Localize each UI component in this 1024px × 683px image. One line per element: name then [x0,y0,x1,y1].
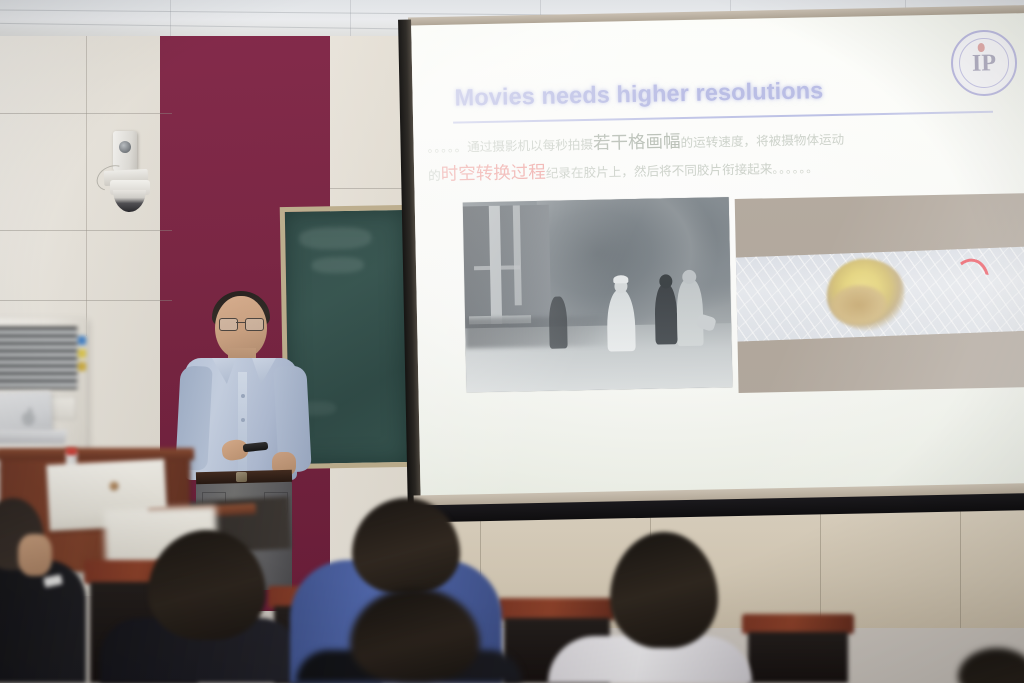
slide-image-film-still [463,197,733,392]
figure-dark-suit [654,284,677,344]
eyeglasses-icon [219,318,264,329]
body-part-1: 通过摄影机以每秒拍摄 [467,137,593,155]
sensor-lens-icon [119,141,131,153]
institute-of-physics-cas-logo: IP [950,29,1017,96]
projection-screen: Movies needs higher resolutions IP 。。。。。… [384,5,1024,578]
box-knob [109,481,118,490]
figure-hat [613,275,628,283]
trailing-dots: 。。。。。。 [772,162,819,177]
leading-dots: 。。。。。 [427,140,467,155]
figure-light-coat [676,280,703,347]
logo-glyph: IP [972,50,997,77]
slide-title: Movies needs higher resolutions [454,75,934,112]
ac-grille [0,326,78,390]
chair [742,614,854,683]
slide-body-text: 。。。。。通过摄影机以每秒拍摄若干格画幅的运转速度，将被摄物体运动 的时空转换过… [427,121,1016,189]
body-part-2: 的运转速度，将被摄物体运动 [680,132,844,150]
body-emphasis-2: 时空转换过程 [441,163,546,185]
podium-top-edge [0,448,194,460]
figure-background [549,296,568,348]
body-part-4: 纪录在胶片上，然后将不同胶片衔接起来 [546,162,773,182]
laptop-base [0,430,67,444]
video-letterbox-strip [735,246,1024,341]
ac-buttons [78,336,86,382]
presentation-slide: Movies needs higher resolutions IP 。。。。。… [411,13,1024,497]
screen-surface: Movies needs higher resolutions IP 。。。。。… [411,13,1024,497]
body-emphasis-1: 若干格画幅 [593,132,681,154]
lecture-hall-scene: Movies needs higher resolutions IP 。。。。。… [0,0,1024,683]
slide-title-underline [453,111,993,124]
belt-buckle [236,472,247,482]
slide-image-video-frame [735,193,1024,393]
bottle-cap [66,448,77,455]
wall-seam [86,36,87,336]
body-part-3: 的 [428,168,441,183]
